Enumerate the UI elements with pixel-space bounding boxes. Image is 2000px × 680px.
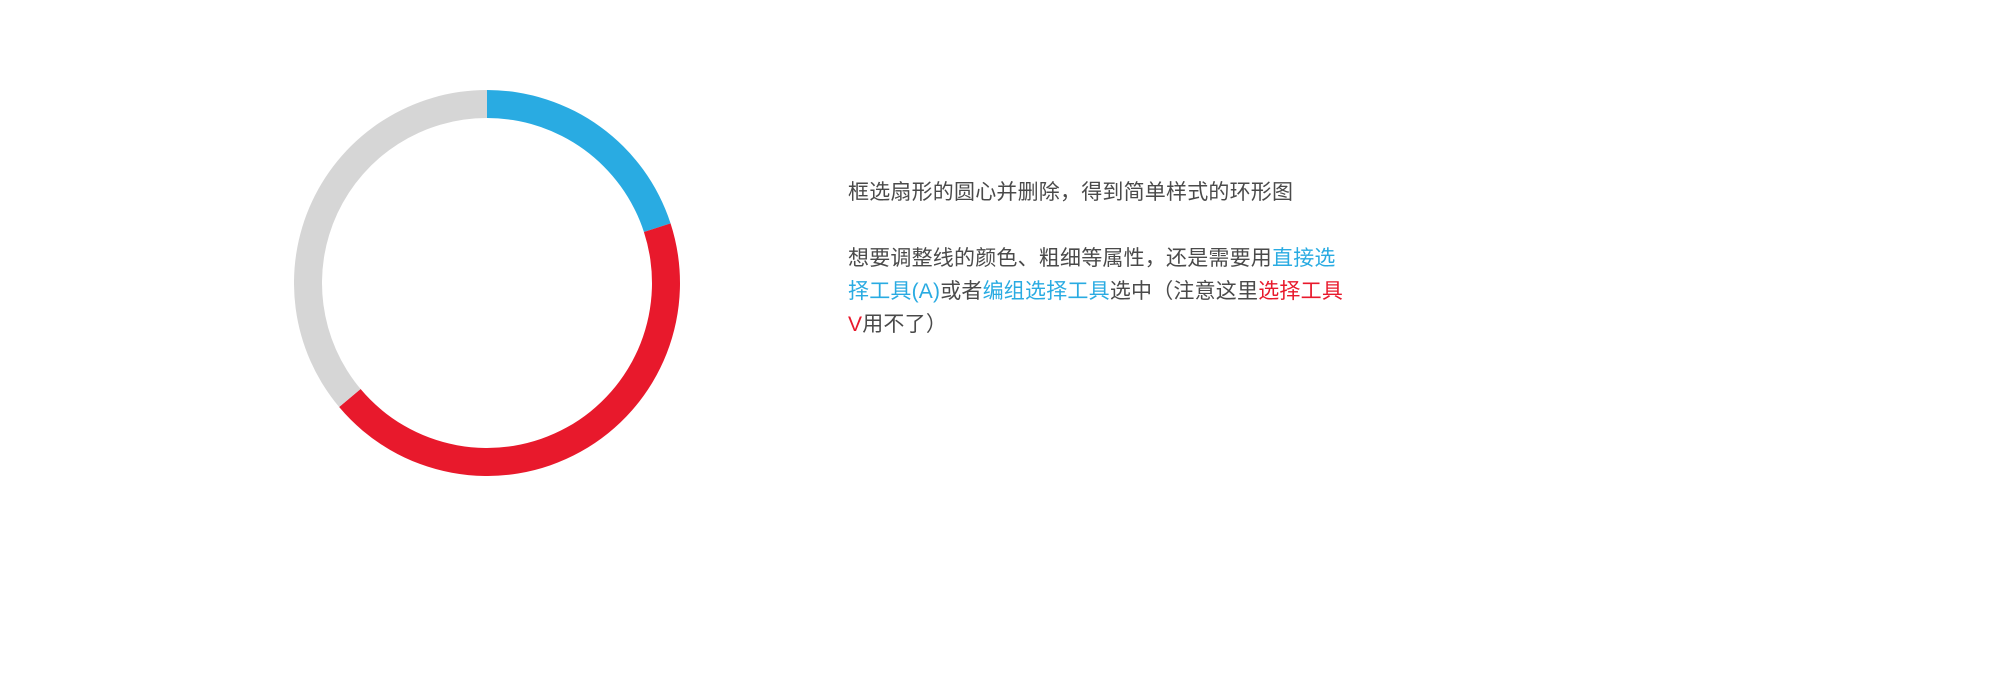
tool-group-selection-label: 编组选择工具 — [983, 280, 1110, 303]
paragraph2-segment-2: 或者 — [940, 280, 982, 303]
donut-slice-segment-1[interactable] — [487, 90, 671, 232]
annotation-paragraph-1: 框选扇形的圆心并删除，得到简单样式的环形图 — [848, 176, 1348, 209]
donut-chart-svg — [294, 90, 680, 476]
paragraph2-segment-4: 用不了） — [862, 313, 947, 336]
donut-slice-segment-2[interactable] — [339, 223, 680, 476]
donut-slice-segment-3[interactable] — [294, 90, 487, 407]
annotation-paragraph-2: 想要调整线的颜色、粗细等属性，还是需要用直接选择工具(A)或者编组选择工具选中（… — [848, 242, 1348, 341]
paragraph2-segment-1: 想要调整线的颜色、粗细等属性，还是需要用 — [848, 247, 1272, 270]
annotation-text-block: 框选扇形的圆心并删除，得到简单样式的环形图 想要调整线的颜色、粗细等属性，还是需… — [848, 176, 1348, 341]
donut-chart[interactable] — [294, 90, 680, 476]
screenshot-canvas: 框选扇形的圆心并删除，得到简单样式的环形图 想要调整线的颜色、粗细等属性，还是需… — [0, 0, 2000, 680]
paragraph2-segment-3: 选中（注意这里 — [1110, 280, 1258, 303]
